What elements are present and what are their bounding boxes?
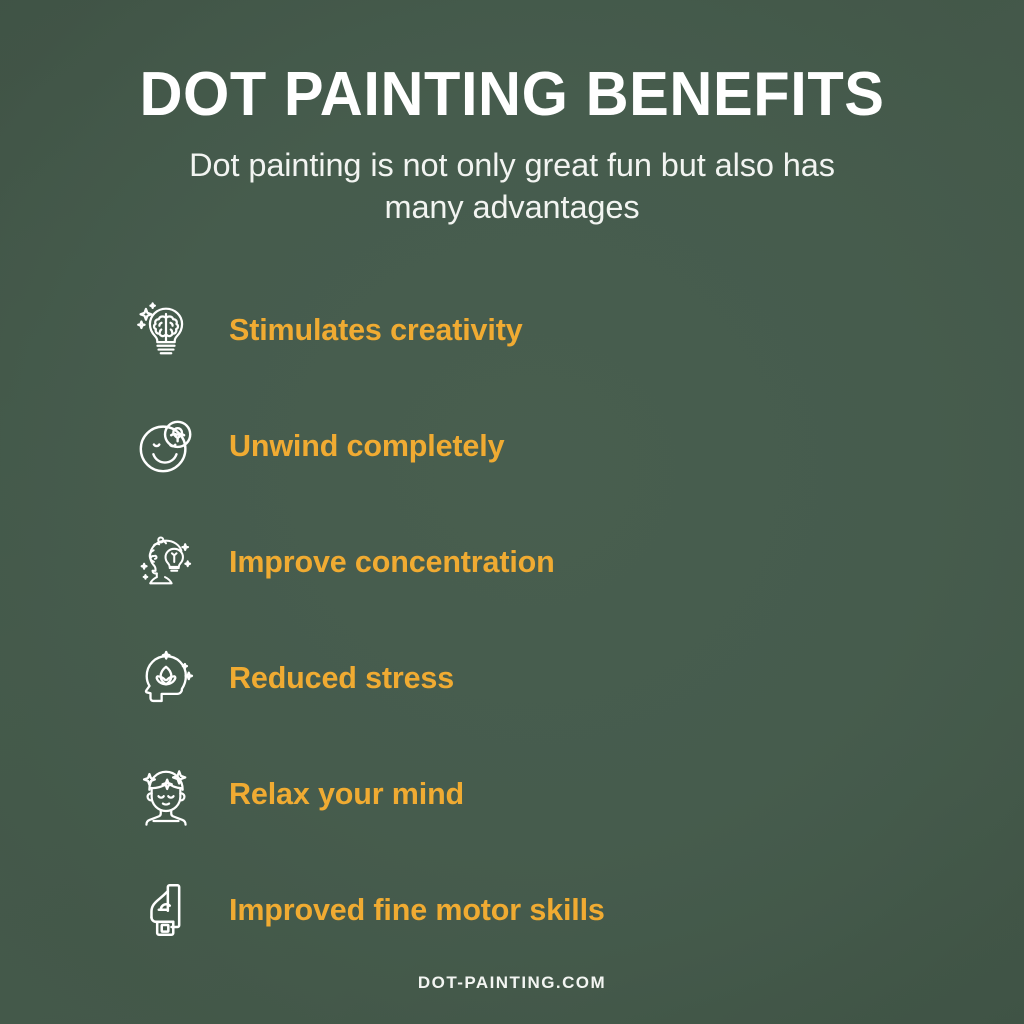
head-lotus-icon <box>133 645 199 711</box>
benefit-label: Unwind completely <box>229 429 504 464</box>
benefits-list: Stimulates creativity Unwind completely <box>0 272 1024 968</box>
brain-lightbulb-icon <box>133 297 199 363</box>
list-item: Improve concentration <box>0 504 1024 620</box>
benefit-label: Relax your mind <box>229 777 464 812</box>
infographic-poster: DOT PAINTING BENEFITS Dot painting is no… <box>0 0 1024 1024</box>
hand-holding-tool-icon <box>133 877 199 943</box>
benefit-label: Improved fine motor skills <box>229 893 605 928</box>
list-item: Improved fine motor skills <box>0 852 1024 968</box>
benefit-label: Stimulates creativity <box>229 313 523 348</box>
head-profile-lightbulb-icon <box>133 529 199 595</box>
list-item: Stimulates creativity <box>0 272 1024 388</box>
benefit-label: Improve concentration <box>229 545 555 580</box>
smiley-face-flower-icon <box>133 413 199 479</box>
list-item: Relax your mind <box>0 736 1024 852</box>
list-item: Unwind completely <box>0 388 1024 504</box>
poster-header: DOT PAINTING BENEFITS Dot painting is no… <box>0 0 1024 228</box>
benefit-label: Reduced stress <box>229 661 454 696</box>
list-item: Reduced stress <box>0 620 1024 736</box>
page-subtitle: Dot painting is not only great fun but a… <box>147 144 877 229</box>
footer-website: DOT-PAINTING.COM <box>0 973 1024 993</box>
face-sparkles-icon <box>133 761 199 827</box>
page-title: DOT PAINTING BENEFITS <box>20 62 1003 128</box>
